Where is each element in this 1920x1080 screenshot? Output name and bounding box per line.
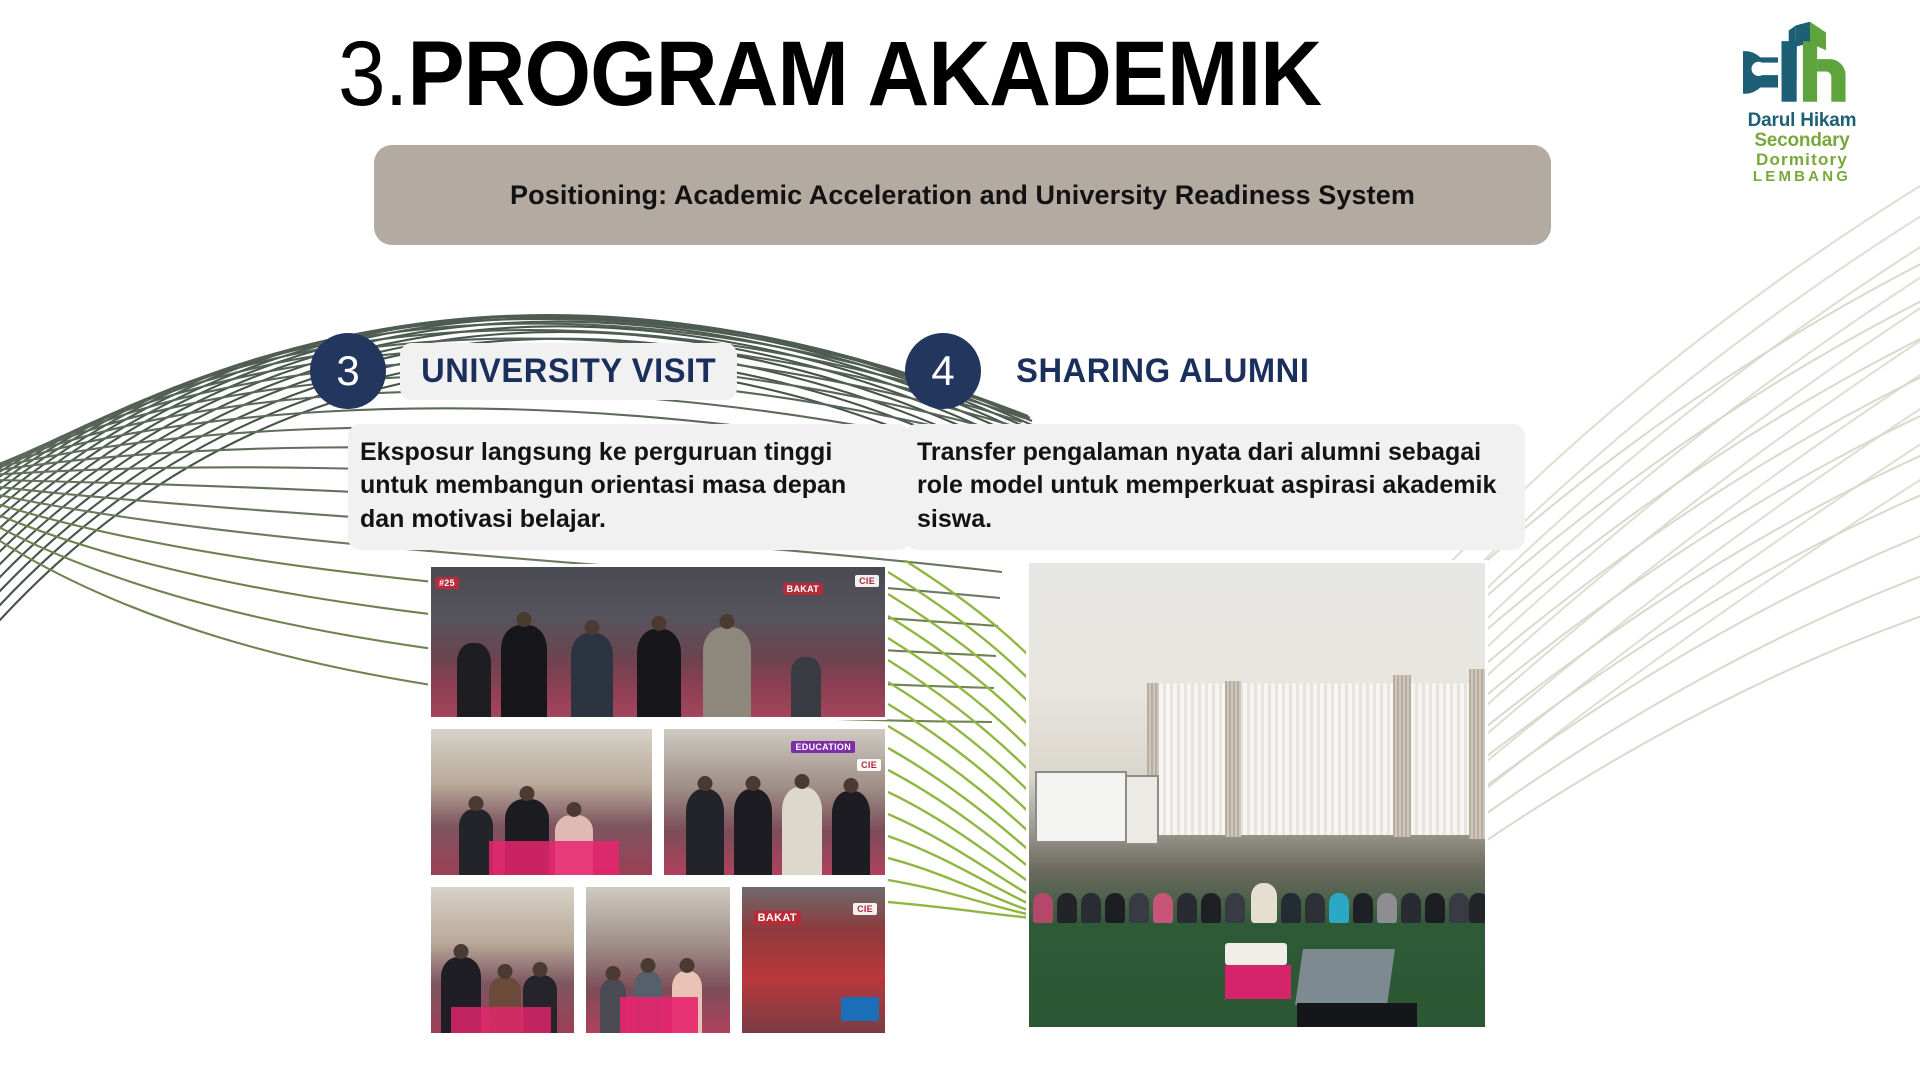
photo-pink-table-booth-queue — [583, 884, 732, 1036]
university-visit-photo-collage: #25 CIE BAKAT EDUCATION — [428, 564, 888, 1030]
logo: Darul Hikam Secondary Dormitory LEMBANG — [1726, 20, 1878, 185]
section-sharing-alumni: 4 SHARING ALUMNI Transfer pengalaman nya… — [905, 328, 1525, 550]
photo-counseling-table-discussion — [428, 884, 577, 1036]
photo-bakat-banner-booth: BAKAT CIE — [739, 884, 888, 1036]
section-number-badge-4: 4 — [905, 333, 981, 409]
collage-row-1: #25 CIE BAKAT — [428, 564, 888, 720]
logo-wordmark: Darul Hikam Secondary Dormitory LEMBANG — [1748, 111, 1857, 185]
section-4-body-text: Transfer pengalaman nyata dari alumni se… — [905, 424, 1525, 550]
section-3-header: 3 UNIVERSITY VISIT — [310, 328, 910, 414]
section-3-heading: UNIVERSITY VISIT — [400, 343, 737, 400]
subtitle-banner: Positioning: Academic Acceleration and U… — [374, 145, 1551, 245]
logo-line-1: Darul Hikam — [1748, 111, 1857, 131]
section-3-body-text: Eksposur langsung ke perguruan tinggi un… — [348, 424, 910, 550]
collage-row-3: BAKAT CIE — [428, 884, 888, 1036]
logo-line-3: Dormitory — [1748, 151, 1857, 169]
photo-students-at-booth-registration — [428, 726, 655, 878]
subtitle-text: Positioning: Academic Acceleration and U… — [510, 180, 1415, 211]
logo-line-4: LEMBANG — [1748, 169, 1857, 185]
page-title: 3.PROGRAM AKADEMIK — [338, 28, 1321, 120]
collage-row-2: EDUCATION CIE — [428, 726, 888, 878]
slide-canvas: 3.PROGRAM AKADEMIK Positioning: Academic… — [0, 0, 1920, 1080]
section-university-visit: 3 UNIVERSITY VISIT Eksposur langsung ke … — [310, 328, 910, 550]
photo-students-group-education-fair: #25 CIE BAKAT — [428, 564, 888, 720]
title-number: 3. — [338, 23, 408, 125]
section-number-badge-3: 3 — [310, 333, 386, 409]
darul-hikam-logo-icon — [1743, 20, 1861, 109]
title-row: 3.PROGRAM AKADEMIK — [0, 28, 1660, 120]
section-4-header: 4 SHARING ALUMNI — [905, 328, 1525, 414]
photo-four-students-with-tote-bags: EDUCATION CIE — [661, 726, 888, 878]
title-text: PROGRAM AKADEMIK — [408, 23, 1322, 125]
section-4-heading: SHARING ALUMNI — [995, 343, 1331, 400]
photo-alumni-sharing-session-classroom — [1026, 560, 1488, 1030]
logo-line-2: Secondary — [1748, 131, 1857, 151]
